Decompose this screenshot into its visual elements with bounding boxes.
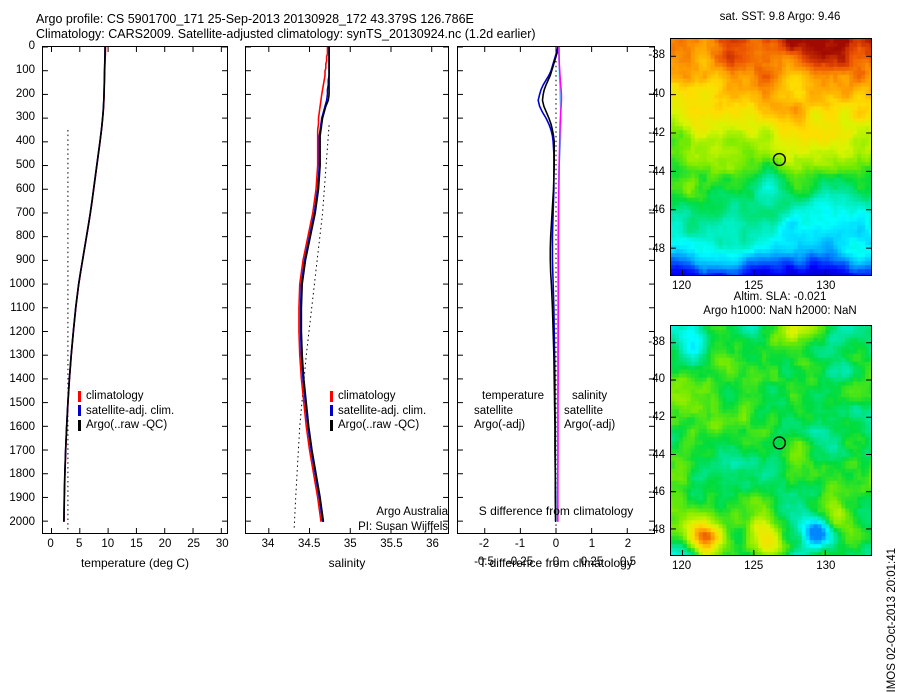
temperature-legend-item: satellite-adj. clim.: [78, 404, 174, 419]
depth-tick-1700: 1700: [9, 445, 35, 457]
difference-legend-column: temperaturesatelliteArgo(-adj): [474, 389, 544, 433]
sla-map-title: Altim. SLA: -0.021 Argo h1000: NaN h2000…: [703, 290, 856, 318]
sla-lat--48: -48: [648, 524, 665, 536]
sst-lat--38: -38: [648, 49, 665, 61]
sst-lat--42: -42: [648, 127, 665, 139]
figure-title-line1: Argo profile: CS 5901700_171 25-Sep-2013…: [36, 12, 474, 27]
depth-tick-1300: 1300: [9, 349, 35, 361]
temp-tick-5: 5: [76, 538, 82, 550]
temp-tick-30: 30: [216, 538, 229, 550]
salinity-legend-item: satellite-adj. clim.: [330, 404, 426, 419]
temp-tick-0: 0: [47, 538, 53, 550]
salinity-profile-plot: [245, 46, 449, 534]
legend-label: Argo(-adj): [474, 419, 525, 431]
depth-tick-900: 900: [16, 254, 35, 266]
temp-tick-25: 25: [187, 538, 200, 550]
legend-label: satellite-adj. clim.: [338, 404, 426, 419]
series-Argo(..raw -QC): [301, 47, 329, 521]
temperature-axis-label: temperature (deg C): [81, 556, 189, 570]
difference-salinity-axis-label: S difference from climatology: [479, 504, 634, 518]
sla-lon-130: 130: [816, 560, 835, 572]
depth-tick-1800: 1800: [9, 468, 35, 480]
tdiff-tick-1: 1: [589, 538, 595, 550]
argo-profile-figure: Argo profile: CS 5901700_171 25-Sep-2013…: [0, 0, 900, 580]
legend-swatch-icon: [330, 391, 333, 402]
sal-tick-35.5: 35.5: [380, 538, 402, 550]
sst-lon-120: 120: [672, 280, 691, 292]
legend-label: satellite: [564, 405, 603, 417]
imos-timestamp: IMOS 02-Oct-2013 20:01:41: [886, 548, 898, 692]
sst-profile-location-marker: [671, 39, 871, 275]
depth-tick-600: 600: [16, 183, 35, 195]
profile-location-marker-circle: [773, 437, 785, 449]
credit-block: Argo Australia PI: Susan Wijffels: [358, 505, 448, 534]
sal-tick-35: 35: [344, 538, 357, 550]
legend-label: climatology: [338, 389, 396, 404]
depth-tick-2000: 2000: [9, 516, 35, 528]
sla-profile-location-marker: [671, 326, 871, 555]
series-Argo(..raw -QC): [64, 47, 105, 521]
legend-swatch-icon: [78, 420, 81, 431]
legend-swatch-icon: [78, 391, 81, 402]
salinity-legend: climatologysatellite-adj. clim.Argo(..ra…: [330, 389, 426, 433]
difference-legend-item: Argo(-adj): [564, 418, 615, 433]
legend-label: satellite-adj. clim.: [86, 404, 174, 419]
sla-map-title-line1: Altim. SLA: -0.021: [703, 290, 856, 304]
sla-lat--44: -44: [648, 449, 665, 461]
sal-tick-36: 36: [426, 538, 439, 550]
sst-lat--40: -40: [648, 88, 665, 100]
sst-map[interactable]: [670, 38, 872, 276]
sla-lat--46: -46: [648, 486, 665, 498]
temperature-profile-plot: [42, 46, 228, 534]
difference-temperature-axis-label: T difference from climatology: [479, 556, 633, 570]
sal-tick-34: 34: [262, 538, 275, 550]
series-salinity Argo(-adj): [558, 47, 562, 521]
sla-lat--42: -42: [648, 411, 665, 423]
sst-lat--46: -46: [648, 204, 665, 216]
legend-swatch-icon: [330, 420, 333, 431]
legend-label: Argo(-adj): [564, 419, 615, 431]
series-climatology: [64, 47, 105, 521]
tdiff-tick-0: 0: [553, 538, 559, 550]
legend-label: Argo(..raw -QC): [338, 418, 419, 433]
tdiff-tick-2: 2: [625, 538, 631, 550]
depth-tick-1000: 1000: [9, 278, 35, 290]
temperature-legend: climatologysatellite-adj. clim.Argo(..ra…: [78, 389, 174, 433]
salinity-legend-item: climatology: [330, 389, 426, 404]
salinity-legend-item: Argo(..raw -QC): [330, 418, 426, 433]
temperature-profile-curves: [43, 47, 227, 533]
difference-profile-curves: [458, 47, 654, 533]
depth-tick-100: 100: [16, 64, 35, 76]
temp-tick-10: 10: [101, 538, 114, 550]
depth-tick-1200: 1200: [9, 326, 35, 338]
legend-swatch-icon: [330, 405, 333, 416]
tdiff-tick--2: -2: [479, 538, 489, 550]
depth-tick-500: 500: [16, 159, 35, 171]
difference-legend: temperaturesatelliteArgo(-adj)salinitysa…: [474, 389, 615, 433]
credit-line2: PI: Susan Wijffels: [358, 520, 448, 535]
sla-lon-125: 125: [744, 560, 763, 572]
sla-map[interactable]: [670, 325, 872, 556]
depth-tick-300: 300: [16, 111, 35, 123]
sla-lat--40: -40: [648, 373, 665, 385]
depth-tick-1600: 1600: [9, 421, 35, 433]
sst-lat--44: -44: [648, 166, 665, 178]
difference-legend-header: salinity: [564, 389, 615, 404]
credit-line1: Argo Australia: [358, 505, 448, 520]
depth-tick-1100: 1100: [10, 302, 35, 314]
difference-legend-item: satellite: [474, 404, 544, 419]
temp-tick-15: 15: [130, 538, 143, 550]
temperature-legend-item: Argo(..raw -QC): [78, 418, 174, 433]
difference-legend-item: satellite: [564, 404, 615, 419]
temperature-legend-item: climatology: [78, 389, 174, 404]
legend-swatch-icon: [78, 405, 81, 416]
profile-location-marker-circle: [773, 154, 785, 166]
difference-profile-plot: [457, 46, 655, 534]
salinity-axis-label: salinity: [329, 556, 366, 570]
difference-legend-column: salinitysatelliteArgo(-adj): [564, 389, 615, 433]
difference-legend-item: Argo(-adj): [474, 418, 544, 433]
depth-tick-1400: 1400: [9, 373, 35, 385]
figure-title-line2: Climatology: CARS2009. Satellite-adjuste…: [36, 27, 536, 42]
difference-legend-header: temperature: [474, 389, 544, 404]
temp-tick-20: 20: [159, 538, 172, 550]
depth-tick-400: 400: [16, 135, 35, 147]
sla-lon-120: 120: [672, 560, 691, 572]
series-satellite-adj. clim.: [64, 47, 105, 521]
salinity-profile-curves: [246, 47, 448, 533]
depth-tick-700: 700: [16, 207, 35, 219]
legend-label: Argo(..raw -QC): [86, 418, 167, 433]
depth-tick-200: 200: [16, 88, 35, 100]
depth-tick-1500: 1500: [9, 397, 35, 409]
sst-lat--48: -48: [648, 243, 665, 255]
sla-map-title-line2: Argo h1000: NaN h2000: NaN: [703, 304, 856, 318]
tdiff-tick--1: -1: [515, 538, 525, 550]
depth-tick-800: 800: [16, 230, 35, 242]
legend-label: satellite: [474, 405, 513, 417]
depth-tick-1900: 1900: [9, 492, 35, 504]
sst-map-title: sat. SST: 9.8 Argo: 9.46: [720, 10, 841, 24]
depth-tick-0: 0: [29, 40, 35, 52]
sal-tick-34.5: 34.5: [298, 538, 320, 550]
sla-lat--38: -38: [648, 336, 665, 348]
legend-label: climatology: [86, 389, 144, 404]
